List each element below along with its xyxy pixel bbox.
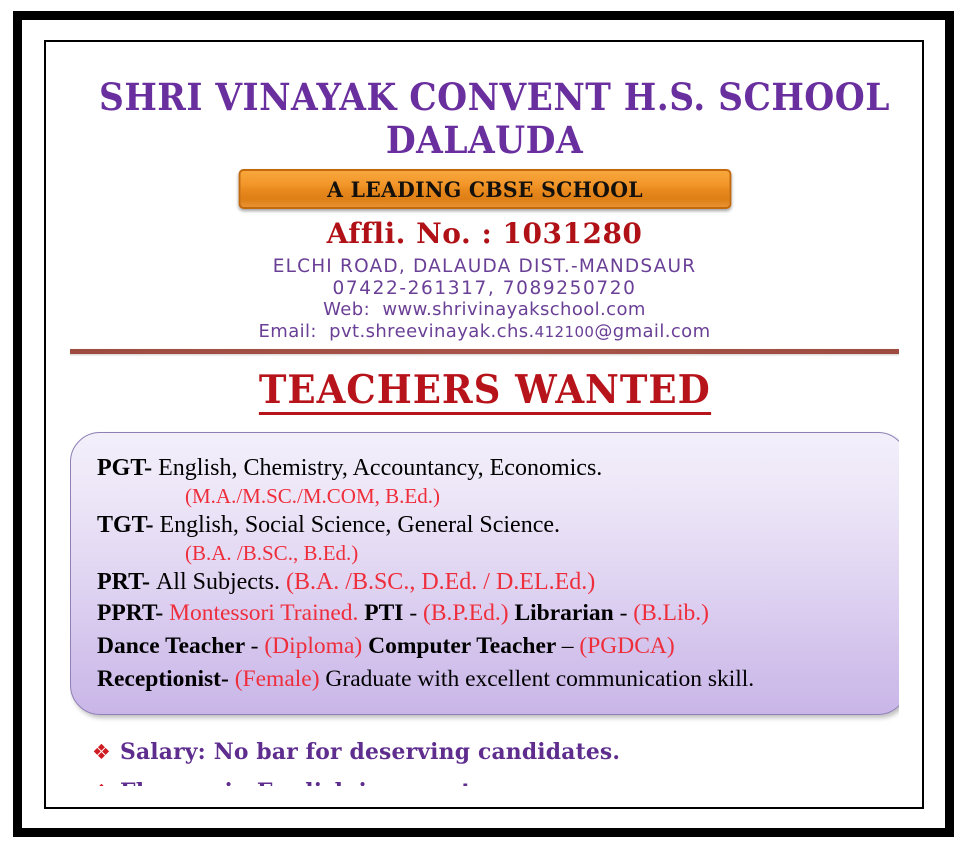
vacancy-receptionist-detail: Graduate with excellent communication sk… xyxy=(320,666,755,692)
vacancy-row-pprt: PPRT- Montessori Trained. PTI - (B.P.Ed.… xyxy=(97,597,881,630)
vacancy-dash: - xyxy=(221,666,235,692)
phone-line: 07422-261317, 7089250720 xyxy=(70,278,899,300)
diamond-bullet-icon: ❖ xyxy=(92,737,120,767)
vacancy-dash: – xyxy=(562,633,580,659)
vacancy-qualification-prt: (B.A. /B.SC., D.Ed. / D.EL.Ed.) xyxy=(286,569,595,595)
vacancy-subjects-pgt: English, Chemistry, Accountancy, Economi… xyxy=(158,455,602,481)
school-name-line-1: SHRI VINAYAK CONVENT H.S. SCHOOL xyxy=(99,64,870,118)
vacancy-subjects-prt: All Subjects. xyxy=(156,569,286,595)
headline-teachers-wanted: TEACHERS WANTED xyxy=(259,369,711,415)
email-value-prefix: pvt.shreevinayak.chs. xyxy=(329,321,535,342)
note-text: Salary: No bar for deserving candidates. xyxy=(120,737,620,767)
vacancy-dash: - xyxy=(620,600,634,626)
vacancy-row-tgt: TGT- English, Social Science, General Sc… xyxy=(97,510,881,540)
vacancy-row-pgt: PGT- English, Chemistry, Accountancy, Ec… xyxy=(97,453,881,483)
poster-content: SHRI VINAYAK CONVENT H.S. SCHOOL DALAUDA… xyxy=(70,64,899,786)
vacancy-qualification-pprt: Montessori Trained. xyxy=(169,600,358,626)
vacancy-row-prt: PRT- All Subjects. (B.A. /B.SC., D.Ed. /… xyxy=(97,567,881,597)
email-line: Email: pvt.shreevinayak.chs.412100@gmail… xyxy=(70,321,899,344)
notes-list: ❖ Salary: No bar for deserving candidate… xyxy=(92,737,899,786)
vacancy-qualification-pti: (B.P.Ed.) xyxy=(423,600,509,626)
website-value: www.shrivinayakschool.com xyxy=(382,299,646,320)
school-name-line-2: DALAUDA xyxy=(99,118,870,162)
vacancy-listing-box: PGT- English, Chemistry, Accountancy, Ec… xyxy=(70,432,899,715)
vacancy-qualification-librarian: (B.Lib.) xyxy=(633,600,709,626)
vacancy-role-computer-teacher: Computer Teacher xyxy=(362,633,562,659)
address-line: ELCHI ROAD, DALAUDA DIST.-MANDSAUR xyxy=(70,256,899,278)
website-line: Web: www.shrivinayakschool.com xyxy=(70,299,899,321)
vacancy-dash: - xyxy=(145,512,159,538)
email-value-digits: 412100 xyxy=(535,323,595,341)
list-item: ❖ Salary: No bar for deserving candidate… xyxy=(92,737,899,767)
vacancy-role-pti: PTI xyxy=(358,600,409,626)
vacancy-role-librarian: Librarian xyxy=(509,600,620,626)
outer-border-frame: SHRI VINAYAK CONVENT H.S. SCHOOL DALAUDA… xyxy=(13,11,954,837)
email-label: Email: xyxy=(258,321,316,342)
section-divider xyxy=(70,349,899,354)
note-text: Fluency in English is a must. xyxy=(120,777,479,786)
affiliation-number: Affli. No. : 1031280 xyxy=(70,217,899,251)
list-item: ❖ Fluency in English is a must. xyxy=(92,777,899,786)
vacancy-qualification-tgt: (B.A. /B.SC., B.Ed.) xyxy=(97,540,881,567)
vacancy-dash: - xyxy=(142,569,156,595)
cbse-banner: A LEADING CBSE SCHOOL xyxy=(238,169,731,209)
vacancy-role-pprt: PPRT xyxy=(97,600,155,626)
email-value-suffix: @gmail.com xyxy=(594,321,710,342)
vacancy-qualification-dance: (Diploma) xyxy=(264,633,362,659)
vacancy-row-dance: Dance Teacher - (Diploma) Computer Teach… xyxy=(97,630,881,663)
vacancy-role-tgt: TGT xyxy=(97,512,145,538)
cbse-banner-wrap: A LEADING CBSE SCHOOL xyxy=(70,169,899,209)
diamond-bullet-icon: ❖ xyxy=(92,777,120,786)
vacancy-subjects-tgt: English, Social Science, General Science… xyxy=(159,512,560,538)
vacancy-role-prt: PRT xyxy=(97,569,142,595)
vacancy-dash: - xyxy=(155,600,169,626)
vacancy-row-receptionist: Receptionist- (Female) Graduate with exc… xyxy=(97,663,881,696)
vacancy-qualification-pgt: (M.A./M.SC./M.COM, B.Ed.) xyxy=(97,483,881,510)
vacancy-dash: - xyxy=(409,600,423,626)
vacancy-dash: - xyxy=(144,455,158,481)
vacancy-role-pgt: PGT xyxy=(97,455,144,481)
inner-border-frame: SHRI VINAYAK CONVENT H.S. SCHOOL DALAUDA… xyxy=(44,40,924,809)
vacancy-qualification-computer: (PGDCA) xyxy=(579,633,674,659)
vacancy-qualification-receptionist: (Female) xyxy=(235,666,320,692)
website-label: Web: xyxy=(323,299,370,320)
vacancy-role-dance-teacher: Dance Teacher xyxy=(97,633,251,659)
address-block: ELCHI ROAD, DALAUDA DIST.-MANDSAUR 07422… xyxy=(70,256,899,343)
headline-wrap: TEACHERS WANTED xyxy=(70,369,899,415)
advertisement-poster: SHRI VINAYAK CONVENT H.S. SCHOOL DALAUDA… xyxy=(0,0,966,847)
vacancy-dash: - xyxy=(251,633,265,659)
vacancy-role-receptionist: Receptionist xyxy=(97,666,221,692)
